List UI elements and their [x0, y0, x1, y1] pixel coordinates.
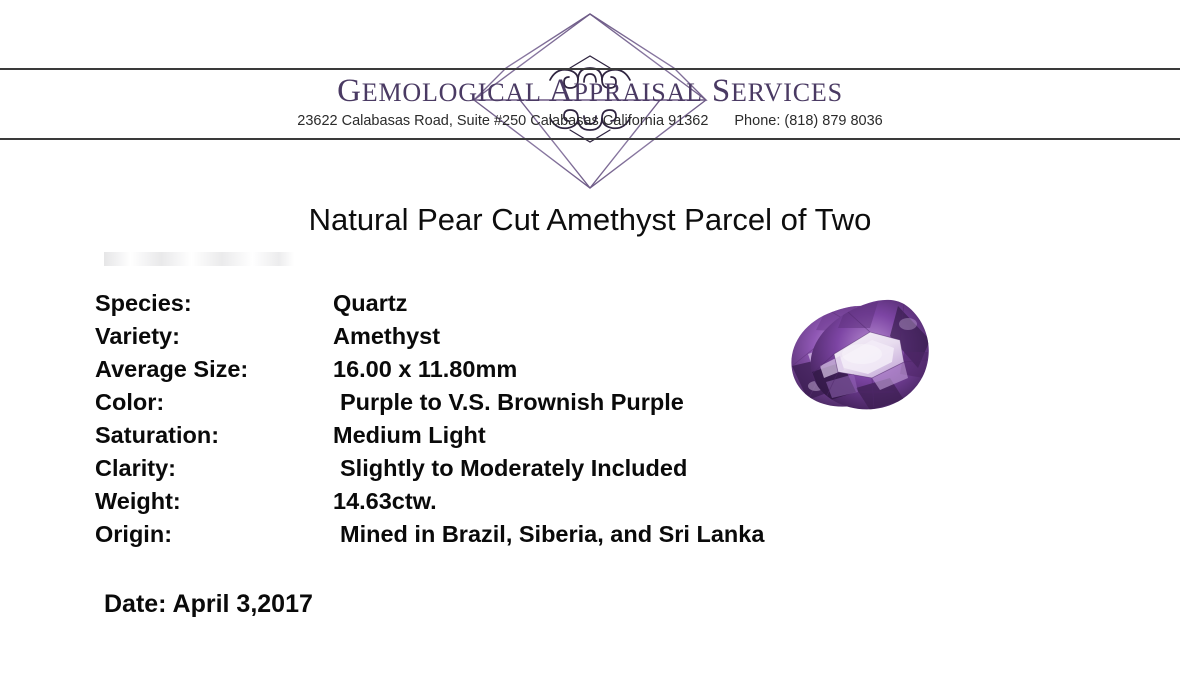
- brand-name-g: G: [337, 73, 362, 109]
- letterhead-rule-bottom: [0, 138, 1180, 140]
- spec-value: 14.63ctw.: [333, 488, 895, 515]
- spec-row: Saturation:Medium Light: [95, 422, 895, 455]
- scan-artifact: [104, 252, 294, 266]
- brand-name-ervices: ERVICES: [731, 78, 843, 107]
- spec-row: Variety:Amethyst: [95, 323, 895, 356]
- spec-label: Weight:: [95, 488, 333, 515]
- letterhead-rule-top: [0, 68, 1180, 70]
- spec-row: Weight:14.63ctw.: [95, 488, 895, 521]
- brand-name-ppraisal: PPRAISAL: [574, 78, 703, 107]
- spec-value: Slightly to Moderately Included: [333, 455, 895, 482]
- spec-row: Species:Quartz: [95, 290, 895, 323]
- spec-label: Variety:: [95, 323, 333, 350]
- page-title: Natural Pear Cut Amethyst Parcel of Two: [0, 198, 1180, 242]
- date-line: Date: April 3,2017: [104, 590, 313, 619]
- letterhead-contact-line: 23622 Calabasas Road, Suite #250 Calabas…: [0, 112, 1180, 130]
- spec-label: Saturation:: [95, 422, 333, 449]
- spec-value: Mined in Brazil, Siberia, and Sri Lanka: [333, 521, 895, 548]
- brand-name: GEMOLOGICAL APPRAISAL SERVICES: [0, 74, 1180, 110]
- spec-row: Clarity:Slightly to Moderately Included: [95, 455, 895, 488]
- letterhead: GEMOLOGICAL APPRAISAL SERVICES 23622 Cal…: [0, 0, 1180, 200]
- spec-row: Color:Purple to V.S. Brownish Purple: [95, 389, 895, 422]
- spec-label: Clarity:: [95, 455, 333, 482]
- brand-address: 23622 Calabasas Road, Suite #250 Calabas…: [297, 113, 708, 129]
- brand-name-a: A: [549, 73, 574, 109]
- appraisal-certificate: GEMOLOGICAL APPRAISAL SERVICES 23622 Cal…: [0, 0, 1180, 673]
- amethyst-pear-pair-photo: [786, 296, 1076, 420]
- specification-list: Species:QuartzVariety:AmethystAverage Si…: [95, 290, 895, 554]
- spec-value: Medium Light: [333, 422, 895, 449]
- spec-row: Average Size:16.00 x 11.80mm: [95, 356, 895, 389]
- spec-label: Average Size:: [95, 356, 333, 383]
- brand-name-s: S: [712, 73, 731, 109]
- brand-name-emological: EMOLOGICAL: [362, 78, 542, 107]
- spec-label: Origin:: [95, 521, 333, 548]
- spec-row: Origin:Mined in Brazil, Siberia, and Sri…: [95, 521, 895, 554]
- spec-label: Color:: [95, 389, 333, 416]
- spec-label: Species:: [95, 290, 333, 317]
- brand-phone: Phone: (818) 879 8036: [734, 113, 882, 129]
